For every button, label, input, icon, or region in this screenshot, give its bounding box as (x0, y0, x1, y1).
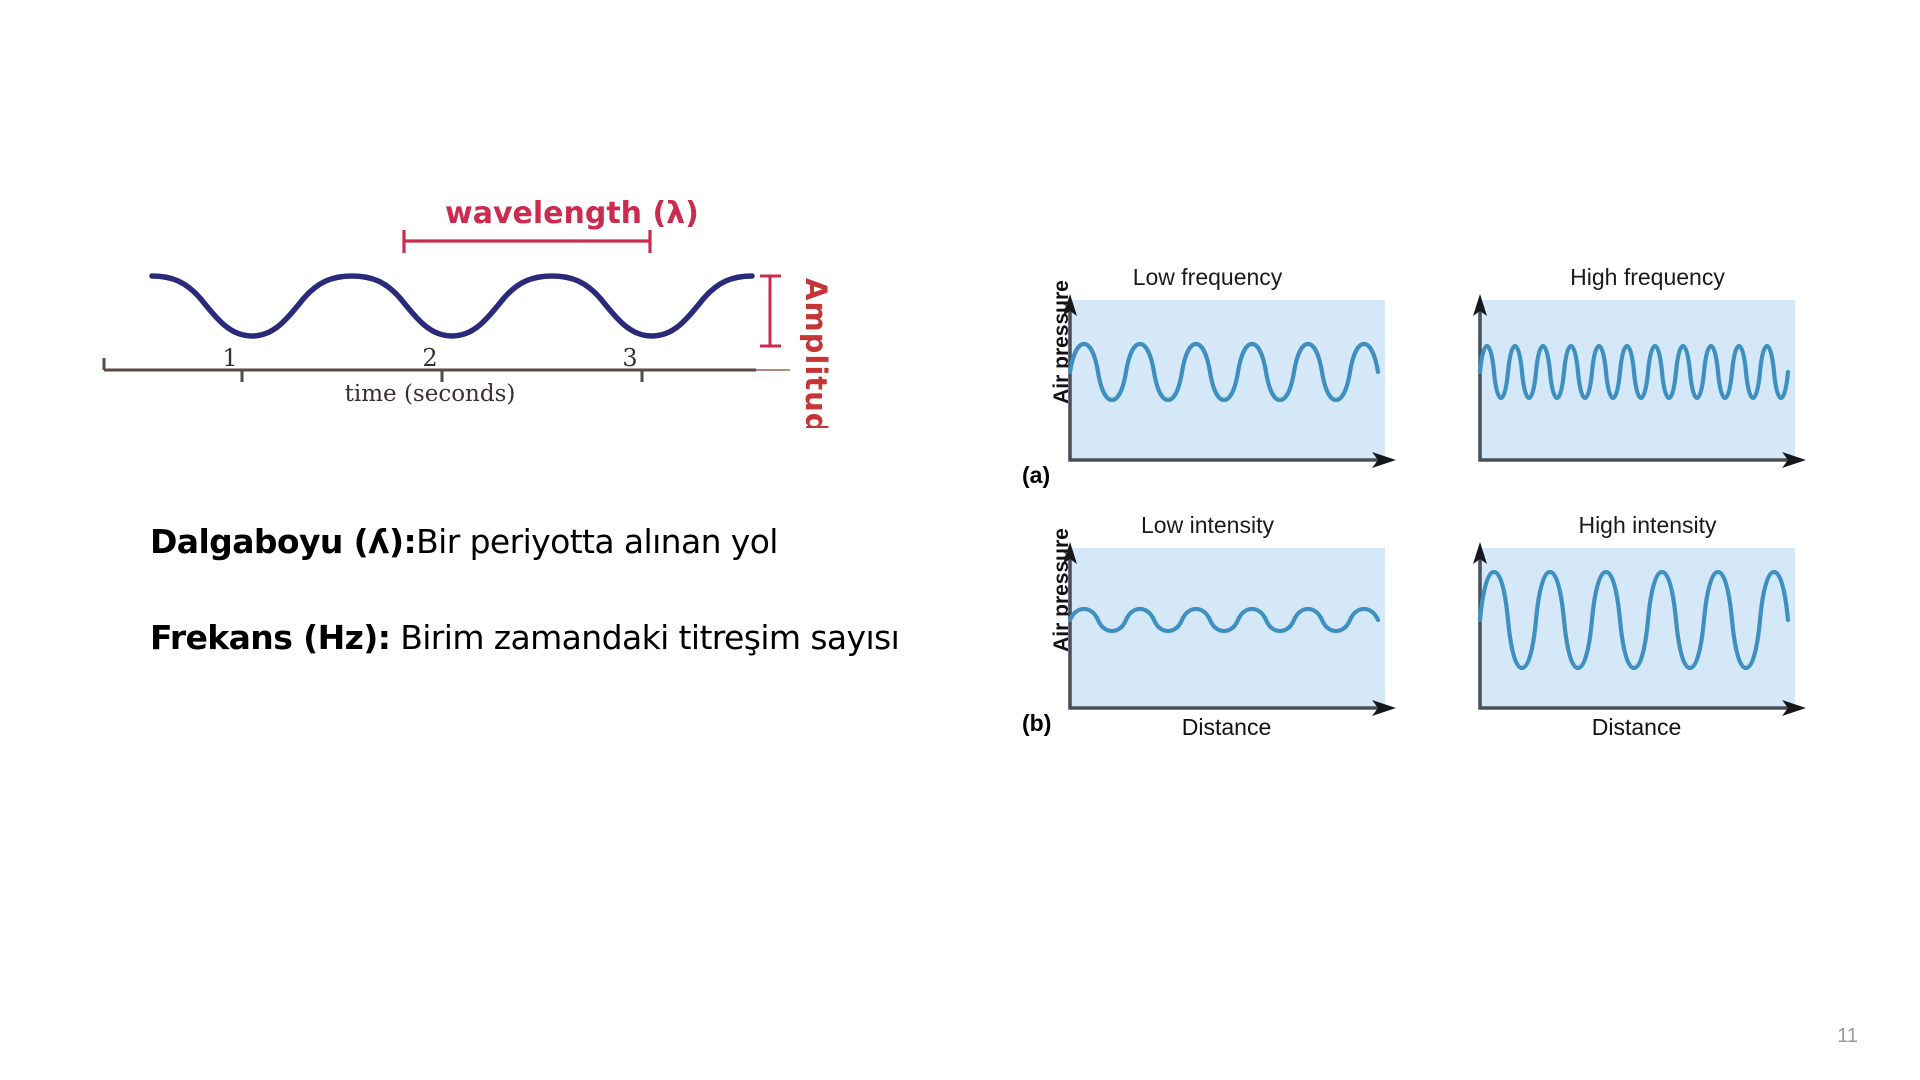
panel-letter-a: (a) (1022, 462, 1050, 489)
panel-axes-low-intensity (1056, 540, 1396, 720)
panel-axes-high-frequency (1466, 292, 1806, 472)
panel-axes-high-intensity (1466, 540, 1806, 720)
x-tick-label-2: 2 (422, 344, 437, 372)
definition-dalgaboyu: Dalgaboyu (ʎ):Bir periyotta alınan yol (150, 525, 1150, 558)
air-pressure-figure: Low frequency Air pressure (a) High freq… (1030, 300, 1830, 700)
panel-title-low-intensity: Low intensity (1030, 512, 1385, 539)
definition-term-frekans: Frekans (Hz): (150, 618, 390, 657)
wave-low-intensity (1070, 609, 1378, 631)
panel-low-intensity: Low intensity Air pressure (b) Distance (1030, 548, 1385, 744)
definitions-block: Dalgaboyu (ʎ):Bir periyotta alınan yol F… (150, 525, 1150, 654)
amplitude-bracket (760, 276, 781, 346)
definition-text-frekans: Birim zamandaki titreşim sayısı (390, 618, 899, 657)
panel-low-frequency: Low frequency Air pressure (a) (1030, 300, 1385, 496)
x-axis-label: time (seconds) (345, 381, 516, 407)
panel-axes-low-frequency (1056, 292, 1396, 472)
panel-title-high-frequency: High frequency (1470, 264, 1825, 291)
wavelength-bracket (404, 230, 650, 253)
wave-low-frequency (1070, 344, 1378, 400)
panel-title-high-intensity: High intensity (1470, 512, 1825, 539)
definition-text-dalgaboyu: Bir periyotta alınan yol (416, 522, 778, 561)
wave-high-frequency (1480, 346, 1788, 398)
panel-high-intensity: High intensity Distance (1440, 548, 1795, 744)
page-number: 11 (1837, 1025, 1858, 1048)
panel-high-frequency: High frequency (1440, 300, 1795, 496)
figure-row-a: Low frequency Air pressure (a) High freq… (1030, 300, 1830, 496)
sine-wave-curve (152, 276, 752, 336)
wavelength-amplitude-diagram: wavelength (λ) Amplitude 1 2 (90, 168, 900, 428)
panel-letter-b: (b) (1022, 710, 1051, 737)
amplitude-label: Amplitude (799, 278, 833, 428)
x-axis-label-distance: Distance (1068, 714, 1385, 741)
panel-title-low-frequency: Low frequency (1030, 264, 1385, 291)
wave-high-intensity (1480, 572, 1788, 668)
x-tick-label-3: 3 (622, 344, 637, 372)
definition-frekans: Frekans (Hz): Birim zamandaki titreşim s… (150, 621, 1150, 654)
x-tick-label-1: 1 (222, 344, 237, 372)
x-axis-label-distance: Distance (1478, 714, 1795, 741)
wavelength-label: wavelength (λ) (445, 196, 699, 231)
figure-row-b: Low intensity Air pressure (b) Distance … (1030, 548, 1830, 744)
definition-term-dalgaboyu: Dalgaboyu (ʎ): (150, 522, 416, 561)
